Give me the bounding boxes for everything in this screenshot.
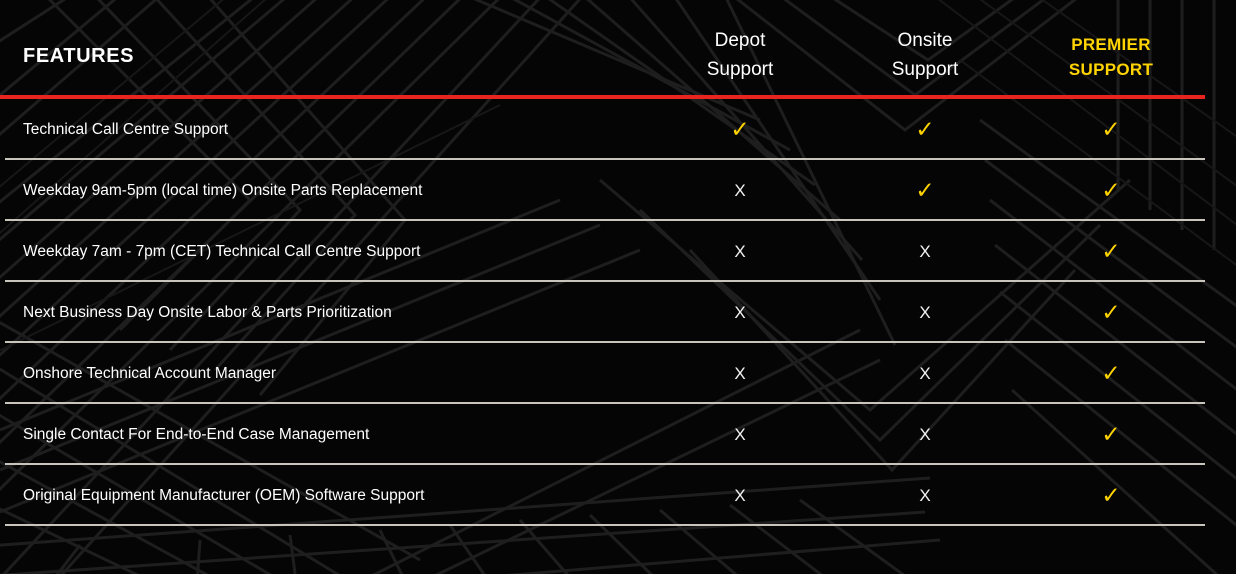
cell-depot: ✓ [640,99,840,160]
check-icon: ✓ [1101,116,1120,142]
cell-depot: X [640,221,840,282]
column-header-premier-line1: PREMIER [1011,32,1211,57]
column-header-depot-line2: Support [640,55,840,84]
cell-onsite: X [825,465,1025,526]
support-tier-comparison-page: FEATURES Depot Support Onsite Support PR… [0,0,1236,574]
cell-premier: ✓ [1011,465,1211,526]
check-icon: ✓ [915,116,934,142]
column-header-onsite-line1: Onsite [825,26,1025,55]
cell-onsite: X [825,221,1025,282]
feature-label: Next Business Day Onsite Labor & Parts P… [23,282,392,343]
column-header-onsite-line2: Support [825,55,1025,84]
cell-premier: ✓ [1011,160,1211,221]
cell-premier: ✓ [1011,343,1211,404]
check-icon: ✓ [1101,299,1120,325]
table-body: Technical Call Centre Support ✓ ✓ ✓ Week… [0,99,1236,526]
cell-onsite: ✓ [825,99,1025,160]
cell-onsite: ✓ [825,160,1025,221]
check-icon: ✓ [1101,238,1120,264]
header-accent-rule [0,95,1205,99]
cell-onsite: X [825,343,1025,404]
cell-depot: X [640,160,840,221]
cross-icon: X [734,242,745,261]
check-icon: ✓ [915,177,934,203]
column-header-depot-line1: Depot [640,26,840,55]
table-row: Single Contact For End-to-End Case Manag… [0,404,1236,465]
table-row: Next Business Day Onsite Labor & Parts P… [0,282,1236,343]
cell-depot: X [640,404,840,465]
cross-icon: X [734,364,745,383]
cross-icon: X [734,303,745,322]
cell-depot: X [640,465,840,526]
cell-onsite: X [825,282,1025,343]
column-header-depot-support: Depot Support [640,26,840,84]
feature-label: Single Contact For End-to-End Case Manag… [23,404,369,465]
cross-icon: X [734,486,745,505]
cross-icon: X [919,303,930,322]
cross-icon: X [734,425,745,444]
feature-label: Original Equipment Manufacturer (OEM) So… [23,465,424,526]
check-icon: ✓ [1101,360,1120,386]
comparison-table: FEATURES Depot Support Onsite Support PR… [0,0,1236,574]
cell-depot: X [640,343,840,404]
check-icon: ✓ [730,116,749,142]
feature-label: Onshore Technical Account Manager [23,343,276,404]
row-divider [5,524,1205,526]
cell-premier: ✓ [1011,99,1211,160]
cell-premier: ✓ [1011,404,1211,465]
feature-label: Technical Call Centre Support [23,99,228,160]
check-icon: ✓ [1101,177,1120,203]
table-row: Weekday 7am - 7pm (CET) Technical Call C… [0,221,1236,282]
column-header-premier-support: PREMIER SUPPORT [1011,32,1211,82]
features-column-title: FEATURES [23,45,134,68]
feature-label: Weekday 7am - 7pm (CET) Technical Call C… [23,221,420,282]
cell-premier: ✓ [1011,221,1211,282]
column-header-onsite-support: Onsite Support [825,26,1025,84]
table-header: FEATURES Depot Support Onsite Support PR… [0,0,1236,95]
column-header-premier-line2: SUPPORT [1011,57,1211,82]
feature-label: Weekday 9am-5pm (local time) Onsite Part… [23,160,422,221]
table-row: Weekday 9am-5pm (local time) Onsite Part… [0,160,1236,221]
check-icon: ✓ [1101,421,1120,447]
cell-premier: ✓ [1011,282,1211,343]
cross-icon: X [919,242,930,261]
table-row: Onshore Technical Account Manager X X ✓ [0,343,1236,404]
cross-icon: X [919,425,930,444]
cell-onsite: X [825,404,1025,465]
cell-depot: X [640,282,840,343]
table-row: Original Equipment Manufacturer (OEM) So… [0,465,1236,526]
table-row: Technical Call Centre Support ✓ ✓ ✓ [0,99,1236,160]
cross-icon: X [919,486,930,505]
cross-icon: X [734,181,745,200]
check-icon: ✓ [1101,482,1120,508]
cross-icon: X [919,364,930,383]
